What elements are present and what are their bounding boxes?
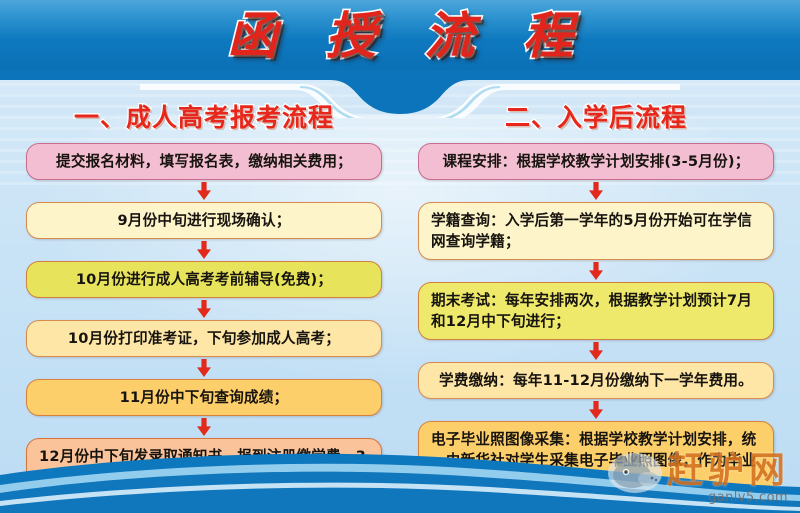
flow-arrow-down-icon: [418, 399, 774, 421]
flow-step-box: 11月份中下旬查询成绩；: [26, 379, 382, 416]
flow-step-box: 期末考试：每年安排两次，根据教学计划预计7月和12月中下旬进行；: [418, 282, 774, 340]
page-title: 函 授 流 程: [0, 5, 800, 67]
flow-arrow-down-icon: [26, 239, 382, 261]
flow-step-box: 学费缴纳：每年11-12月份缴纳下一学年费用。: [418, 362, 774, 399]
flow-step-box: 9月份中旬进行现场确认；: [26, 202, 382, 239]
column-heading-right: 二、入学后流程: [418, 98, 774, 134]
flow-step-box: 10月份打印准考证，下旬参加成人高考；: [26, 320, 382, 357]
poster-canvas: 函 授 流 程 一、成人高考报考流程 提交报名材料，填写报名表，缴纳相关费用；9…: [0, 0, 800, 513]
footer-wave-decoration: [0, 441, 800, 513]
flow-step-box: 10月份进行成人高考考前辅导(免费)；: [26, 261, 382, 298]
flow-step-box: 课程安排：根据学校教学计划安排(3-5月份)；: [418, 143, 774, 180]
flow-arrow-down-icon: [26, 416, 382, 438]
flow-step-box: 学籍查询：入学后第一学年的5月份开始可在学信网查询学籍；: [418, 202, 774, 260]
flow-arrow-down-icon: [418, 340, 774, 362]
flow-arrow-down-icon: [418, 260, 774, 282]
flow-step-box: 提交报名材料，填写报名表，缴纳相关费用；: [26, 143, 382, 180]
column-admission-process: 一、成人高考报考流程 提交报名材料，填写报名表，缴纳相关费用；9月份中旬进行现场…: [26, 98, 382, 496]
flow-arrow-down-icon: [26, 298, 382, 320]
column-heading-left: 一、成人高考报考流程: [26, 98, 382, 134]
flow-arrow-down-icon: [418, 180, 774, 202]
flow-arrow-down-icon: [26, 357, 382, 379]
flow-arrow-down-icon: [26, 180, 382, 202]
